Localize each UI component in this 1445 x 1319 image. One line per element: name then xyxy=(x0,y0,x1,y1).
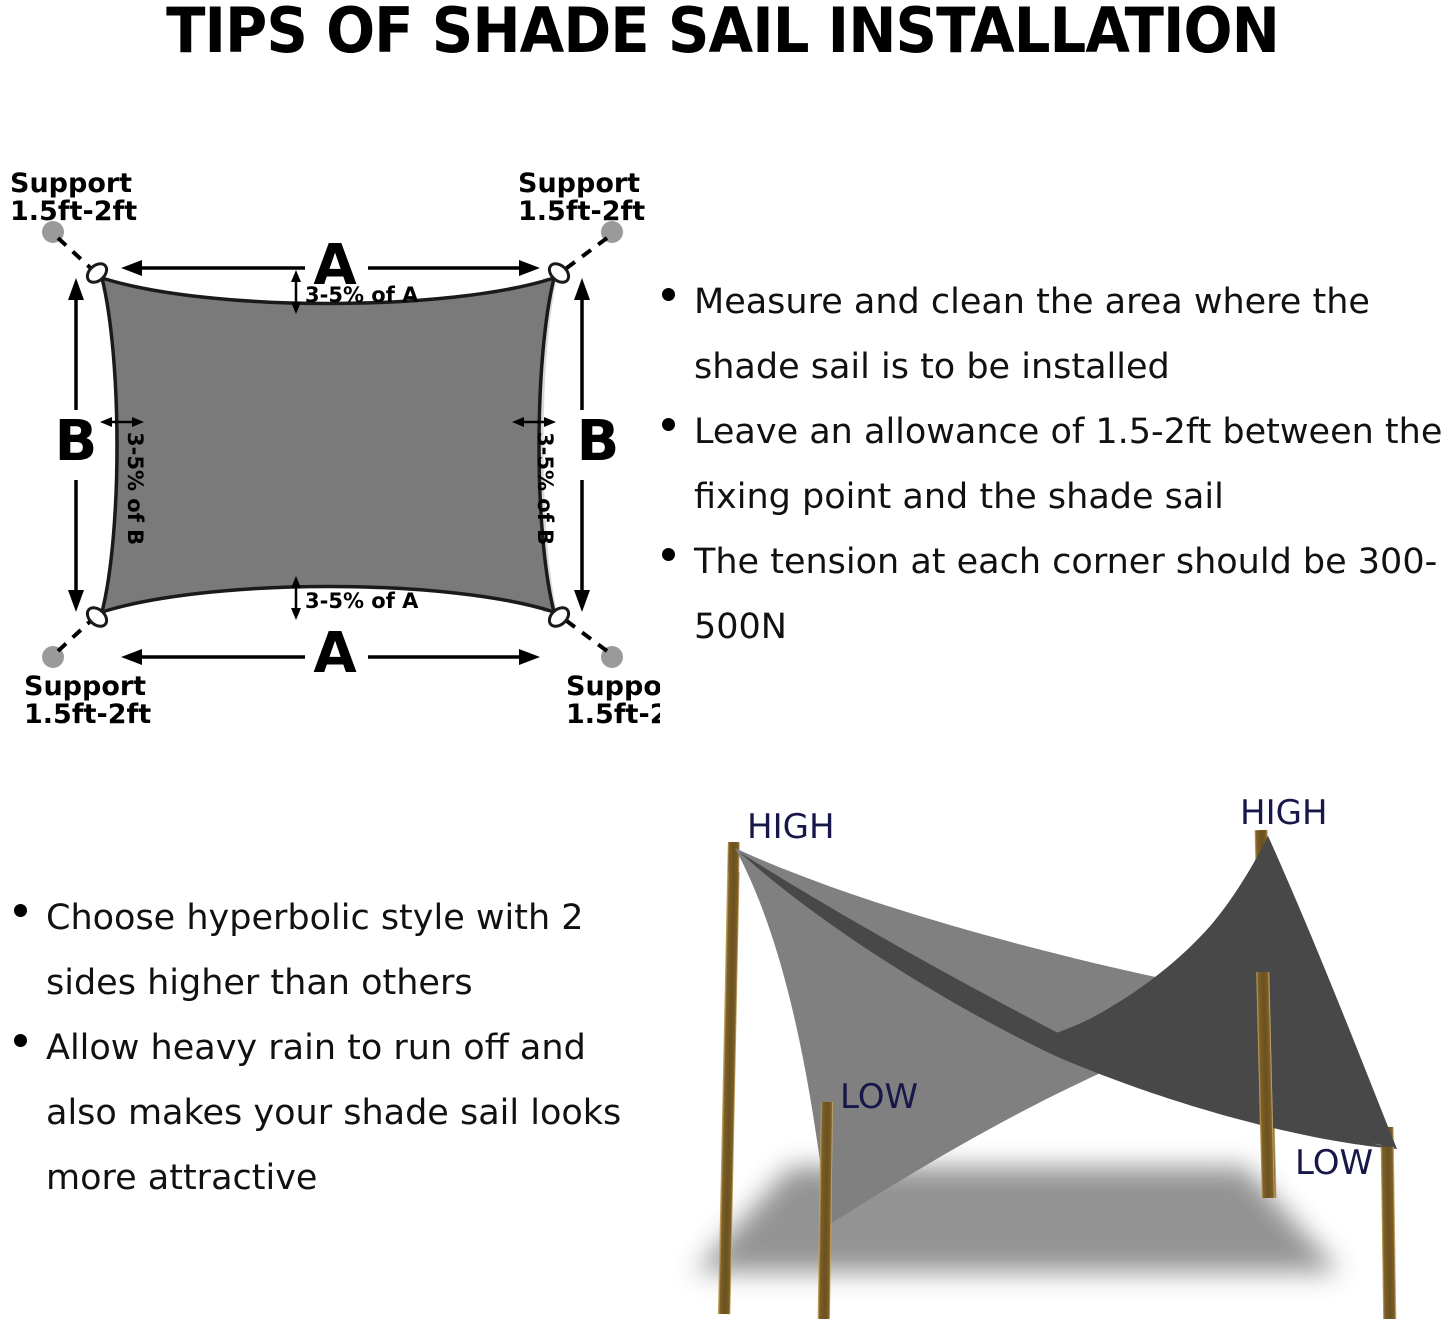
dimension-label-a-bottom: A xyxy=(313,621,357,686)
tip-text: The tension at each corner should be 300… xyxy=(694,542,1437,647)
tips-list-bottom-left: Choose hyperbolic style with 2 sides hig… xyxy=(0,886,625,1211)
hyper-diagram-svg: HIGH HIGH LOW LOW xyxy=(640,772,1445,1319)
support-caption-bottom-left-line2: 1.5ft-2ft xyxy=(24,699,151,730)
support-caption-bottom-left: Support 1.5ft-2ft xyxy=(24,671,151,730)
tip-text: Leave an allowance of 1.5-2ft between th… xyxy=(694,412,1442,517)
rectangular-sail-diagram: A A B B 3-5% of A 3-5% of A 3-5% of B 3-… xyxy=(0,160,660,740)
bullet-icon xyxy=(14,1034,27,1047)
sag-text-top: 3-5% of A xyxy=(305,283,419,307)
sag-text-right: 3-5% of B xyxy=(533,432,557,545)
tip-text: Allow heavy rain to run off and also mak… xyxy=(46,1028,621,1198)
shade-sail-body xyxy=(102,278,554,612)
support-caption-bottom-left-line1: Support xyxy=(24,671,146,702)
infographic-page: TIPS OF SHADE SAIL INSTALLATION xyxy=(0,0,1445,1319)
support-caption-bottom-right-line2: 1.5ft-2ft xyxy=(566,699,660,730)
bullet-icon xyxy=(662,548,675,561)
bullet-icon xyxy=(14,904,27,917)
support-caption-top-right-line2: 1.5ft-2ft xyxy=(518,196,645,227)
tip-text: Choose hyperbolic style with 2 sides hig… xyxy=(46,898,584,1003)
support-caption-top-right-line1: Support xyxy=(518,168,640,199)
bullet-icon xyxy=(662,418,675,431)
label-high-right: HIGH xyxy=(1240,793,1328,833)
page-title: TIPS OF SHADE SAIL INSTALLATION xyxy=(51,0,1395,66)
label-low-left: LOW xyxy=(840,1077,918,1117)
tip-item: Allow heavy rain to run off and also mak… xyxy=(0,1016,625,1211)
ground-shadow xyxy=(695,1167,1340,1272)
tip-item: Measure and clean the area where the sha… xyxy=(648,270,1445,400)
sag-text-left: 3-5% of B xyxy=(123,432,147,545)
post-low-right-front xyxy=(1381,1147,1397,1319)
support-caption-top-left-line2: 1.5ft-2ft xyxy=(10,196,137,227)
rect-diagram-svg: A A B B 3-5% of A 3-5% of A 3-5% of B 3-… xyxy=(0,160,660,740)
dimension-label-b-left: B xyxy=(55,409,98,474)
sag-text-bottom: 3-5% of A xyxy=(305,589,419,613)
tip-item: Choose hyperbolic style with 2 sides hig… xyxy=(0,886,625,1016)
hyperbolic-sail-diagram: HIGH HIGH LOW LOW xyxy=(640,772,1445,1319)
bullet-icon xyxy=(662,288,675,301)
tip-item: The tension at each corner should be 300… xyxy=(648,530,1445,660)
tip-text: Measure and clean the area where the sha… xyxy=(694,282,1370,387)
support-caption-top-left: Support 1.5ft-2ft xyxy=(10,168,137,227)
tip-item: Leave an allowance of 1.5-2ft between th… xyxy=(648,400,1445,530)
label-high-left: HIGH xyxy=(747,807,835,847)
label-low-right: LOW xyxy=(1295,1143,1373,1183)
support-caption-top-right: Support 1.5ft-2ft xyxy=(518,168,645,227)
support-caption-bottom-right-line1: Support xyxy=(566,671,660,702)
dimension-label-b-right: B xyxy=(577,409,620,474)
tips-list-right: Measure and clean the area where the sha… xyxy=(648,270,1445,660)
support-caption-bottom-right: Support 1.5ft-2ft xyxy=(566,671,660,730)
tether-line-top-right xyxy=(560,238,607,273)
support-caption-top-left-line1: Support xyxy=(10,168,132,199)
